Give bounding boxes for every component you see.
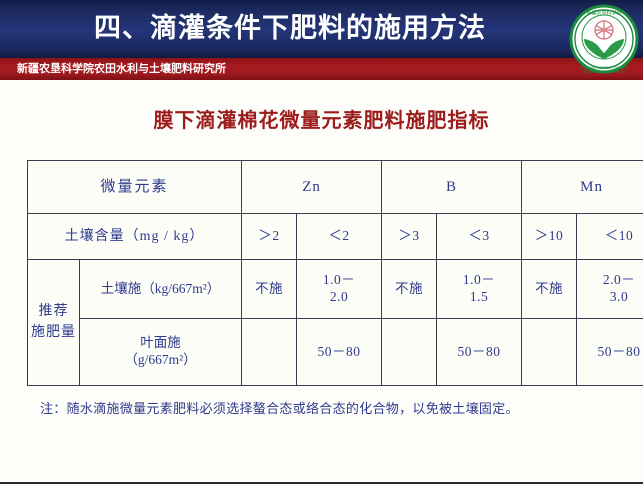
row-group-label-recommended-amount: 推荐 施肥量 — [28, 260, 80, 386]
row-label-foliar-line2: （g/667m²） — [82, 352, 239, 369]
slide-canvas: 四、滴灌条件下肥料的施用方法 新疆农垦科学院农田水利与土壤肥料研究所 新疆农垦科… — [0, 0, 643, 484]
cell-soil-app-mn-low: 2.0－ 3.0 — [577, 260, 643, 319]
cell-soil-app-mn-low-l1: 2.0－ — [579, 272, 643, 289]
table-header-row: 微量元素 Zn B Mn — [28, 161, 643, 214]
svg-text:RECLAMATION SCIENCES: RECLAMATION SCIENCES — [583, 70, 626, 74]
cell-soil-content-b-low: ＜3 — [437, 214, 522, 260]
cell-soil-content-b-high: ＞3 — [382, 214, 437, 260]
cell-foliar-b-high — [382, 319, 437, 386]
cell-foliar-zn-low: 50－80 — [297, 319, 382, 386]
micronutrient-fertilizer-table: 微量元素 Zn B Mn 土壤含量（mg / kg） ＞2 ＜2 ＞3 ＜3 ＞… — [27, 160, 643, 386]
svg-text:新疆农垦科学院: 新疆农垦科学院 — [586, 10, 621, 17]
cell-soil-app-zn-low-l2: 2.0 — [299, 289, 379, 306]
header-cell-mn: Mn — [522, 161, 643, 214]
cell-soil-app-zn-high-l1: 不施 — [244, 281, 294, 298]
cell-soil-app-b-high-l1: 不施 — [384, 281, 434, 298]
institute-name: 新疆农垦科学院农田水利与土壤肥料研究所 — [17, 59, 226, 79]
cell-soil-app-b-low-l2: 1.5 — [439, 289, 519, 306]
table-row-soil-application: 推荐 施肥量 土壤施（kg/667m²） 不施 1.0－ 2.0 不施 1.0－… — [28, 260, 643, 319]
table-row-foliar-application: 叶面施 （g/667m²） 50－80 50－80 50－80 — [28, 319, 643, 386]
cell-foliar-mn-low: 50－80 — [577, 319, 643, 386]
row-label-foliar-application: 叶面施 （g/667m²） — [80, 319, 242, 386]
cell-soil-app-mn-high-l1: 不施 — [524, 281, 574, 298]
cell-foliar-b-low: 50－80 — [437, 319, 522, 386]
cell-soil-app-mn-low-l2: 3.0 — [579, 289, 643, 306]
cell-soil-app-zn-high: 不施 — [242, 260, 297, 319]
table-row-soil-content: 土壤含量（mg / kg） ＞2 ＜2 ＞3 ＜3 ＞10 ＜10 — [28, 214, 643, 260]
table-title: 膜下滴灌棉花微量元素肥料施肥指标 — [0, 104, 643, 133]
cell-soil-app-mn-high: 不施 — [522, 260, 577, 319]
row-label-soil-content: 土壤含量（mg / kg） — [28, 214, 242, 260]
header-cell-b: B — [382, 161, 522, 214]
header-cell-zn: Zn — [242, 161, 382, 214]
cell-soil-content-mn-high: ＞10 — [522, 214, 577, 260]
cell-soil-content-zn-high: ＞2 — [242, 214, 297, 260]
row-label-foliar-line1: 叶面施 — [82, 335, 239, 352]
header-cell-micronutrient: 微量元素 — [28, 161, 242, 214]
row-group-label-line1: 推荐 — [30, 302, 77, 322]
table-note: 注：随水滴施微量元素肥料必须选择螯合态或络合态的化合物，以免被土壤固定。 — [40, 398, 519, 417]
cell-soil-app-zn-low: 1.0－ 2.0 — [297, 260, 382, 319]
academy-logo-icon: 新疆农垦科学院 XINJIANG ACADEMY OF AGRI RECLAMA… — [568, 3, 640, 75]
row-label-soil-application-text: 土壤施（kg/667m²） — [101, 281, 221, 296]
page-title: 四、滴灌条件下肥料的施用方法 — [0, 4, 580, 52]
row-group-label-line2: 施肥量 — [30, 323, 77, 343]
cell-foliar-mn-high — [522, 319, 577, 386]
academy-logo-svg: 新疆农垦科学院 XINJIANG ACADEMY OF AGRI RECLAMA… — [568, 3, 640, 75]
cell-soil-app-b-low: 1.0－ 1.5 — [437, 260, 522, 319]
cell-soil-app-zn-low-l1: 1.0－ — [299, 272, 379, 289]
row-label-soil-application: 土壤施（kg/667m²） — [80, 260, 242, 319]
cell-foliar-zn-high — [242, 319, 297, 386]
cell-soil-content-mn-low: ＜10 — [577, 214, 643, 260]
cell-soil-app-b-low-l1: 1.0－ — [439, 272, 519, 289]
cell-soil-app-b-high: 不施 — [382, 260, 437, 319]
cell-soil-content-zn-low: ＜2 — [297, 214, 382, 260]
